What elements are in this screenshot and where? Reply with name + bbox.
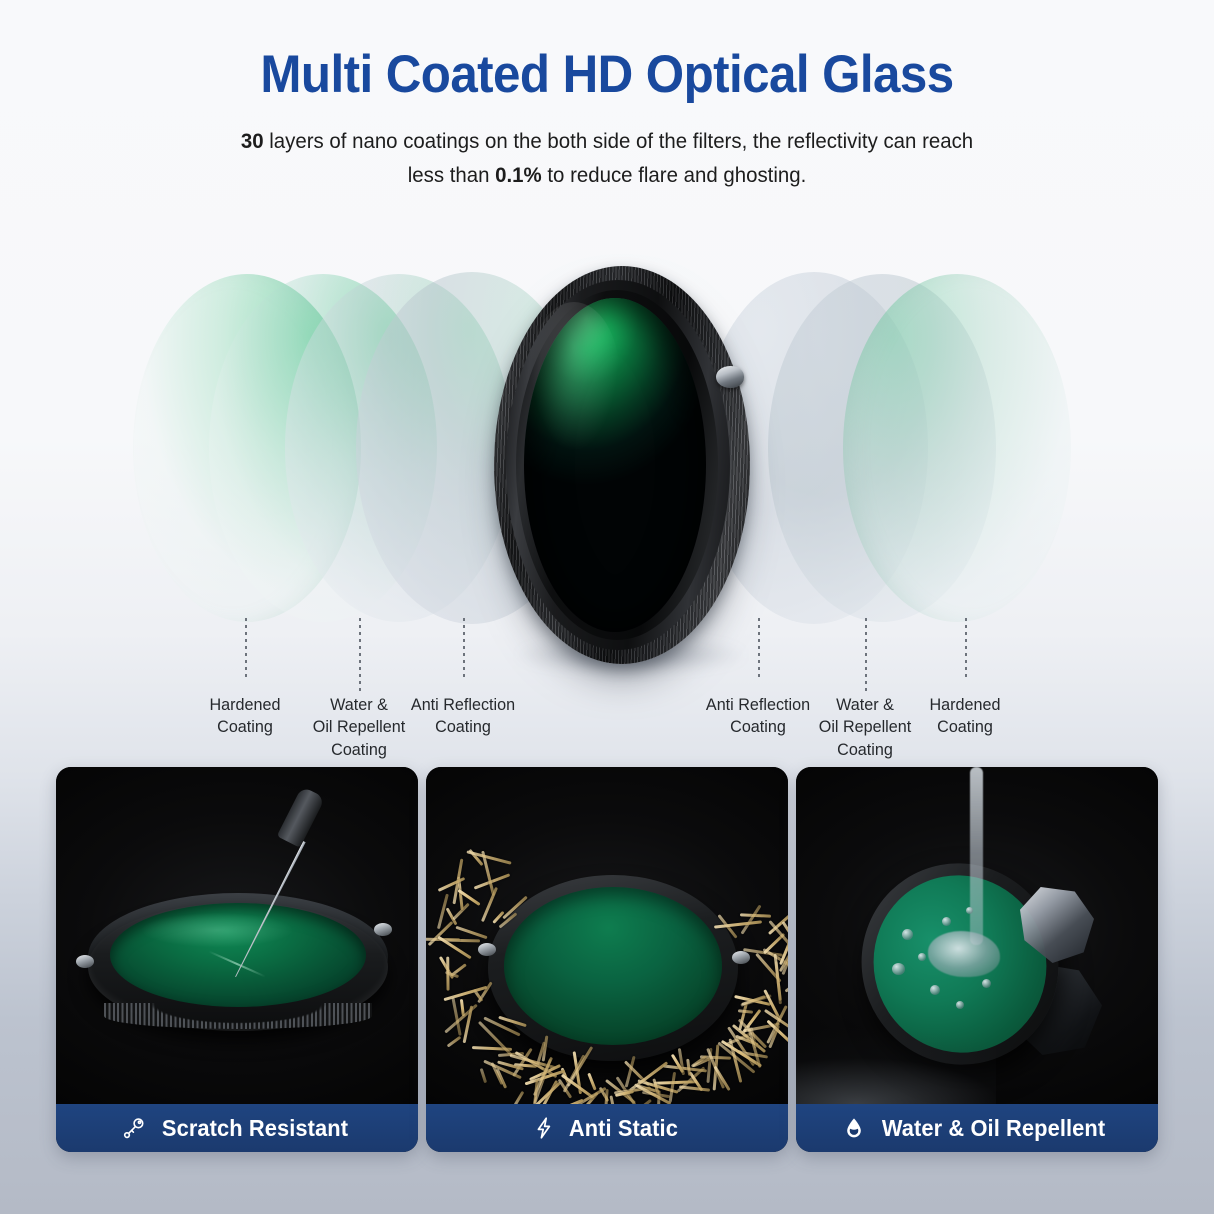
water-droplet xyxy=(942,917,951,926)
subtitle-bold-layers: 30 xyxy=(241,129,264,153)
label-line-1: Hardened xyxy=(894,694,1037,716)
water-droplet xyxy=(930,985,940,995)
wood-shaving xyxy=(609,1096,619,1104)
photo-anti-static-test xyxy=(426,767,788,1104)
wood-shaving xyxy=(738,1009,754,1013)
wood-shaving xyxy=(480,1068,487,1083)
wood-shaving xyxy=(604,1089,608,1104)
wood-shavings xyxy=(426,767,788,1104)
page-subtitle: 30 layers of nano coatings on the both s… xyxy=(227,125,987,192)
photo-water-repellent-test xyxy=(796,767,1158,1104)
wood-shaving xyxy=(514,1091,525,1104)
wood-shaving xyxy=(654,1080,697,1085)
water-pool-reflection xyxy=(796,1008,996,1104)
water-stream xyxy=(970,767,983,945)
water-droplet xyxy=(902,929,913,940)
feature-panel-scratch-resistant[interactable]: Scratch Resistant xyxy=(56,767,418,1152)
lightning-bolt-icon xyxy=(533,1116,555,1140)
water-droplet xyxy=(918,953,926,961)
wood-shaving xyxy=(679,1085,710,1091)
wood-shaving xyxy=(456,926,488,940)
header: Multi Coated HD Optical Glass 30 layers … xyxy=(0,0,1214,192)
wood-shaving xyxy=(478,1021,513,1056)
key-icon xyxy=(122,1116,146,1140)
leader-line-hardened-right xyxy=(965,618,967,680)
panel-caption-text: Anti Static xyxy=(569,1115,678,1142)
feature-panels: Scratch Resistant Anti Static xyxy=(0,767,1214,1152)
filter-glass-sheen xyxy=(528,302,620,452)
filter-adjust-knob xyxy=(716,366,744,388)
coating-layers-diagram xyxy=(0,246,1214,676)
filter-pin-left xyxy=(76,955,94,968)
leader-line-water-oil-right xyxy=(865,618,867,694)
subtitle-post-text: to reduce flare and ghosting. xyxy=(542,163,807,187)
panel-caption-anti-static: Anti Static xyxy=(426,1104,788,1152)
wood-shaving xyxy=(587,1073,596,1091)
label-line-3: Coating xyxy=(794,739,937,761)
wood-shaving xyxy=(741,904,762,934)
label-line-2: Coating xyxy=(392,716,535,738)
label-line-1: Anti Reflection xyxy=(392,694,535,716)
feature-panel-anti-static[interactable]: Anti Static xyxy=(426,767,788,1152)
water-droplet xyxy=(982,979,991,988)
water-droplet-icon xyxy=(843,1116,865,1140)
wood-shaving xyxy=(785,970,788,992)
callout-label-anti-reflection-left: Anti Reflection Coating xyxy=(392,694,535,739)
coating-disc-hardened-right xyxy=(843,274,1071,622)
wood-shaving xyxy=(663,1064,708,1072)
leader-line-water-oil-left xyxy=(359,618,361,694)
panel-caption-text: Water & Oil Repellent xyxy=(882,1115,1105,1142)
photo-scratch-test xyxy=(56,767,418,1104)
page-title: Multi Coated HD Optical Glass xyxy=(42,46,1171,103)
panel-caption-text: Scratch Resistant xyxy=(161,1115,347,1142)
leader-line-anti-reflection-right xyxy=(758,618,760,680)
filter-glass-highlight xyxy=(142,913,292,947)
water-droplet xyxy=(966,907,973,914)
feature-panel-water-oil-repellent[interactable]: Water & Oil Repellent xyxy=(796,767,1158,1152)
leader-line-anti-reflection-left xyxy=(463,618,465,680)
subtitle-bold-reflectivity: 0.1% xyxy=(495,163,542,187)
water-splash xyxy=(928,931,1000,977)
camera-filter-product xyxy=(494,266,750,664)
filter-pin-right xyxy=(374,923,392,936)
label-line-3: Coating xyxy=(288,739,431,761)
label-line-2: Coating xyxy=(894,716,1037,738)
panel-caption-scratch-resistant: Scratch Resistant xyxy=(56,1104,418,1152)
leader-line-hardened-left xyxy=(245,618,247,680)
callout-label-hardened-right: Hardened Coating xyxy=(894,694,1037,739)
wood-shaving xyxy=(447,1035,462,1047)
water-droplet xyxy=(892,963,905,975)
panel-caption-water-oil-repellent: Water & Oil Repellent xyxy=(796,1104,1158,1152)
